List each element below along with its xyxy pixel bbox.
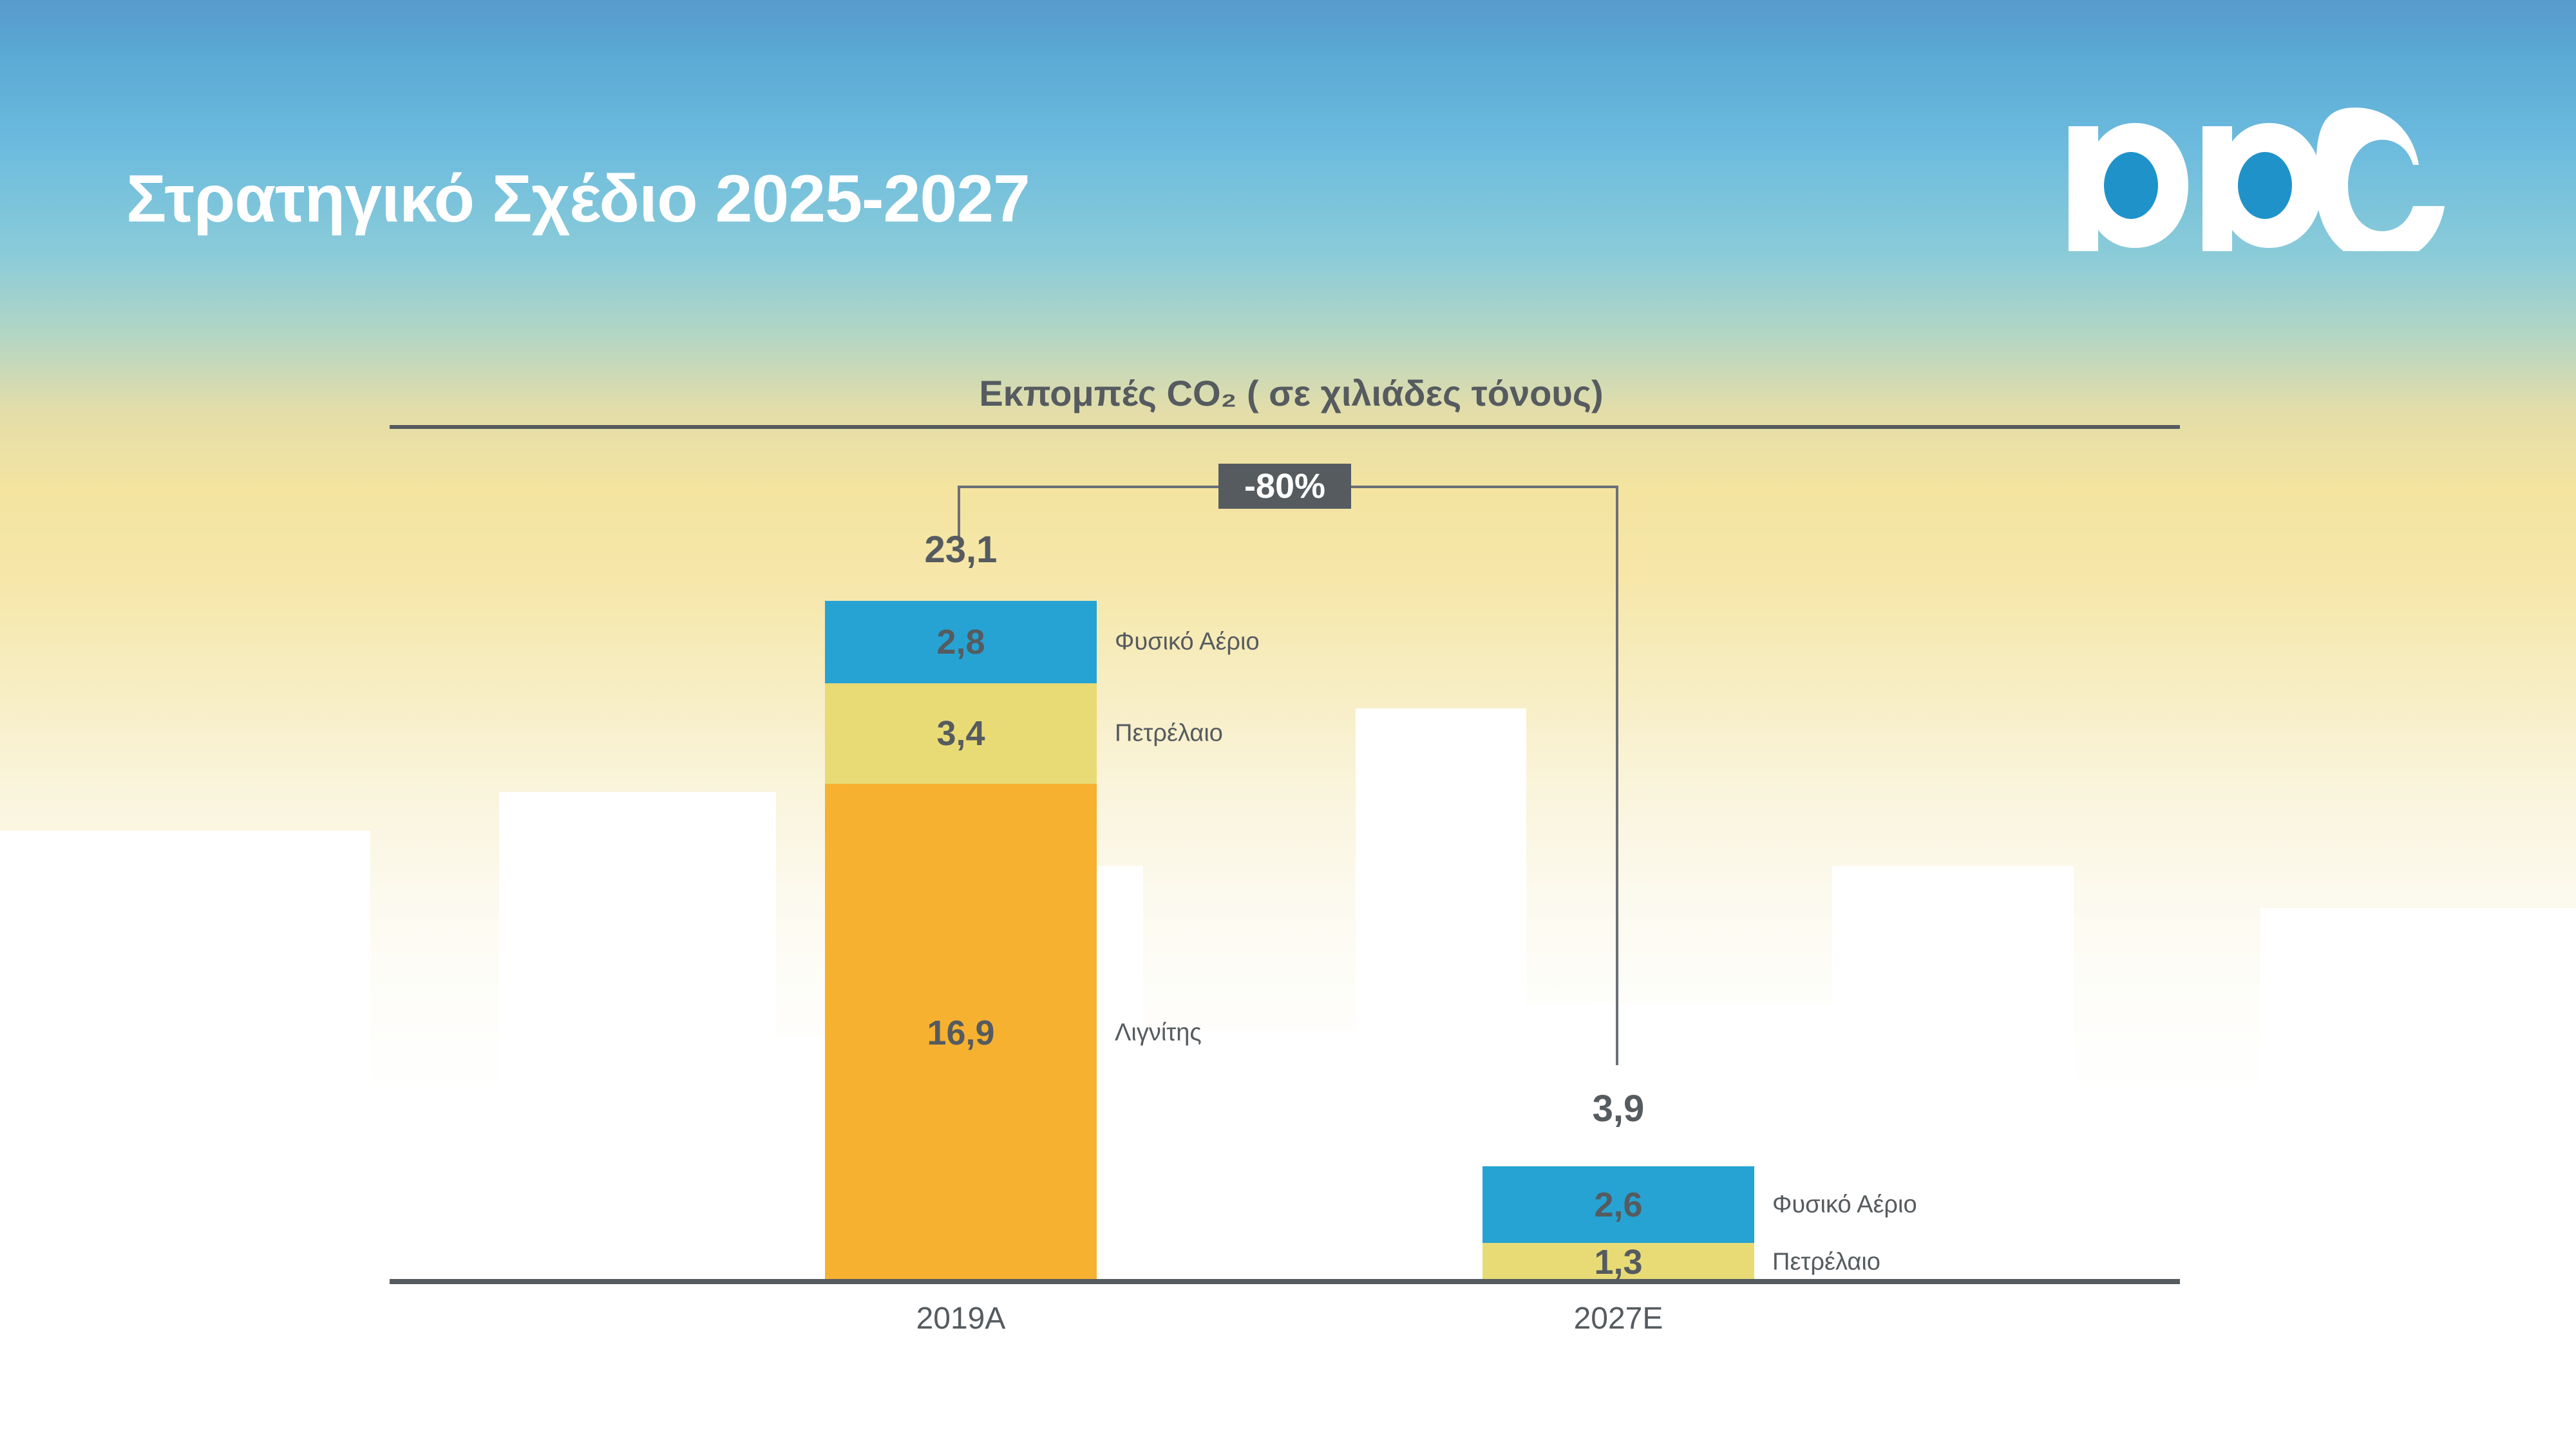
bar-segment-value: 1,3 — [1594, 1242, 1642, 1282]
bar-segment-gas[interactable]: 2,6 Φυσικό Αέριο — [1482, 1166, 1754, 1243]
x-axis-line — [390, 1279, 2180, 1284]
chart-title: Εκπομπές CO₂ ( σε χιλιάδες τόνους) — [905, 372, 1678, 414]
delta-badge: -80% — [1218, 464, 1351, 509]
bar-segment-lignite[interactable]: 16,9 Λιγνίτης — [825, 784, 1097, 1282]
category-label-2019a: 2019A — [825, 1301, 1097, 1336]
bar-segment-label: Φυσικό Αέριο — [1115, 629, 1260, 656]
bar-segment-label: Πετρέλαιο — [1772, 1249, 1880, 1276]
bar-segment-value: 3,4 — [936, 714, 985, 753]
chart-title-rule — [390, 425, 2180, 429]
bar-segment-value: 2,6 — [1594, 1185, 1642, 1225]
bar-segment-value: 2,8 — [936, 622, 985, 662]
bar-segment-label: Πετρέλαιο — [1115, 720, 1223, 748]
bar-segment-oil[interactable]: 1,3 Πετρέλαιο — [1482, 1243, 1754, 1282]
bar-segment-gas[interactable]: 2,8 Φυσικό Αέριο — [825, 601, 1097, 683]
bar-column-2019a[interactable]: 23,1 2,8 Φυσικό Αέριο 3,4 Πετρέλαιο 16,9… — [825, 573, 1097, 1282]
bar-total-label: 3,9 — [1482, 1087, 1754, 1130]
ghost-total-label: 7,4 — [1526, 992, 1719, 1046]
delta-bracket-right-tick — [1616, 486, 1618, 1065]
bar-stack: 2,6 Φυσικό Αέριο 1,3 Πετρέλαιο — [1482, 1166, 1754, 1282]
bar-segment-oil[interactable]: 3,4 Πετρέλαιο — [825, 683, 1097, 784]
bar-segment-label: Φυσικό Αέριο — [1772, 1191, 1917, 1218]
bar-segment-label: Λιγνίτης — [1115, 1019, 1202, 1046]
bar-stack: 2,8 Φυσικό Αέριο 3,4 Πετρέλαιο 16,9 Λιγν… — [825, 601, 1097, 1282]
bar-total-label: 23,1 — [825, 528, 1097, 571]
bar-segment-value: 16,9 — [927, 1013, 994, 1053]
co2-emissions-chart: Εκπομπές CO₂ ( σε χιλιάδες τόνους) 7,4 -… — [0, 0, 2576, 1449]
category-label-2027e: 2027E — [1482, 1301, 1754, 1336]
bar-column-2027e[interactable]: 3,9 2,6 Φυσικό Αέριο 1,3 Πετρέλαιο 2027E — [1482, 1140, 1754, 1282]
